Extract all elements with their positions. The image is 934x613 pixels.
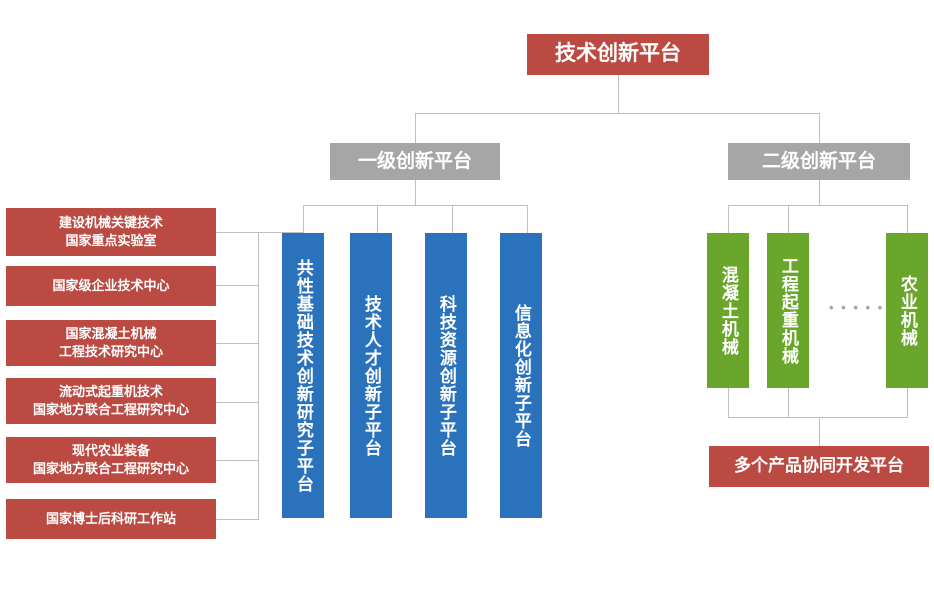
national-platform-line1: 国家博士后科研工作站 [46,510,176,528]
national-platform-line2: 国家地方联合工程研究中心 [33,460,189,478]
bottom-platform-label: 多个产品协同开发平台 [734,455,904,478]
connector-product-3 [907,205,908,233]
org-chart-diagram: 技术创新平台 一级创新平台 二级创新平台 建设机械关键技术 国家重点实验室 国家… [0,0,934,613]
connector-national-1 [216,232,259,233]
national-platform-line1: 国家级企业技术中心 [52,277,169,295]
national-platform-line2: 国家重点实验室 [65,232,156,250]
sub-platform-label: 共性基础技术创新研究子平台 [292,259,314,493]
connector-root-bar [415,113,820,114]
national-platform-box[interactable]: 现代农业装备 国家地方联合工程研究中心 [6,437,216,483]
connector-product-1-down [728,388,729,418]
connector-sub-4 [527,205,528,233]
sub-platform-box[interactable]: 共性基础技术创新研究子平台 [282,233,324,518]
connector-national-6 [216,519,259,520]
national-platform-box[interactable]: 国家级企业技术中心 [6,266,216,306]
connector-level2-stem [819,113,820,143]
national-platform-line2: 国家地方联合工程研究中心 [33,401,189,419]
product-platform-box[interactable]: 农业机械 [886,233,928,388]
national-platform-line1: 流动式起重机技术 [59,383,163,401]
national-platform-box[interactable]: 国家博士后科研工作站 [6,499,216,539]
national-platform-line1: 现代农业装备 [72,442,150,460]
connector-national-spine [258,232,259,519]
connector-national-3 [216,343,259,344]
level-box-primary[interactable]: 一级创新平台 [330,143,500,180]
product-platform-label: 混凝土机械 [717,266,739,356]
sub-platform-box[interactable]: 技术人才创新子平台 [350,233,392,518]
connector-bottom-stem [819,417,820,446]
connector-level1-stem [415,113,416,143]
level-box-secondary-label: 二级创新平台 [762,149,876,175]
national-platform-line1: 国家混凝土机械 [65,325,156,343]
connector-sub-1 [303,205,304,233]
connector-product-3-down [907,388,908,418]
connector-sub-3 [452,205,453,233]
connector-product-2-down [788,388,789,418]
product-platform-label: 农业机械 [896,275,918,347]
connector-sub-bar [303,205,527,206]
sub-platform-box[interactable]: 科技资源创新子平台 [425,233,467,518]
connector-national-2 [216,285,259,286]
bottom-platform-box[interactable]: 多个产品协同开发平台 [709,446,929,487]
sub-platform-label: 技术人才创新子平台 [360,295,382,457]
connector-product-bar [728,205,907,206]
connector-root-stem [618,75,619,114]
product-platform-label: 工程起重机械 [777,257,799,365]
connector-level2-down [819,180,820,206]
connector-national-5 [216,460,259,461]
sub-platform-box[interactable]: 信息化创新子平台 [500,233,542,518]
level-box-secondary[interactable]: 二级创新平台 [728,143,910,180]
root-title-box[interactable]: 技术创新平台 [527,34,709,75]
product-platform-box[interactable]: 混凝土机械 [707,233,749,388]
sub-platform-label: 科技资源创新子平台 [435,295,457,457]
national-platform-box[interactable]: 国家混凝土机械 工程技术研究中心 [6,320,216,366]
connector-merge-bar [728,417,908,418]
connector-product-2 [788,205,789,233]
national-platform-line2: 工程技术研究中心 [59,343,163,361]
level-box-primary-label: 一级创新平台 [358,149,472,175]
connector-level1-down [415,180,416,206]
sub-platform-label: 信息化创新子平台 [510,304,532,448]
root-title-label: 技术创新平台 [555,40,681,68]
national-platform-box[interactable]: 流动式起重机技术 国家地方联合工程研究中心 [6,378,216,424]
connector-product-1 [728,205,729,233]
national-platform-box[interactable]: 建设机械关键技术 国家重点实验室 [6,208,216,256]
product-platform-box[interactable]: 工程起重机械 [767,233,809,388]
national-platform-line1: 建设机械关键技术 [59,214,163,232]
connector-sub-2 [377,205,378,233]
connector-national-4 [216,402,259,403]
